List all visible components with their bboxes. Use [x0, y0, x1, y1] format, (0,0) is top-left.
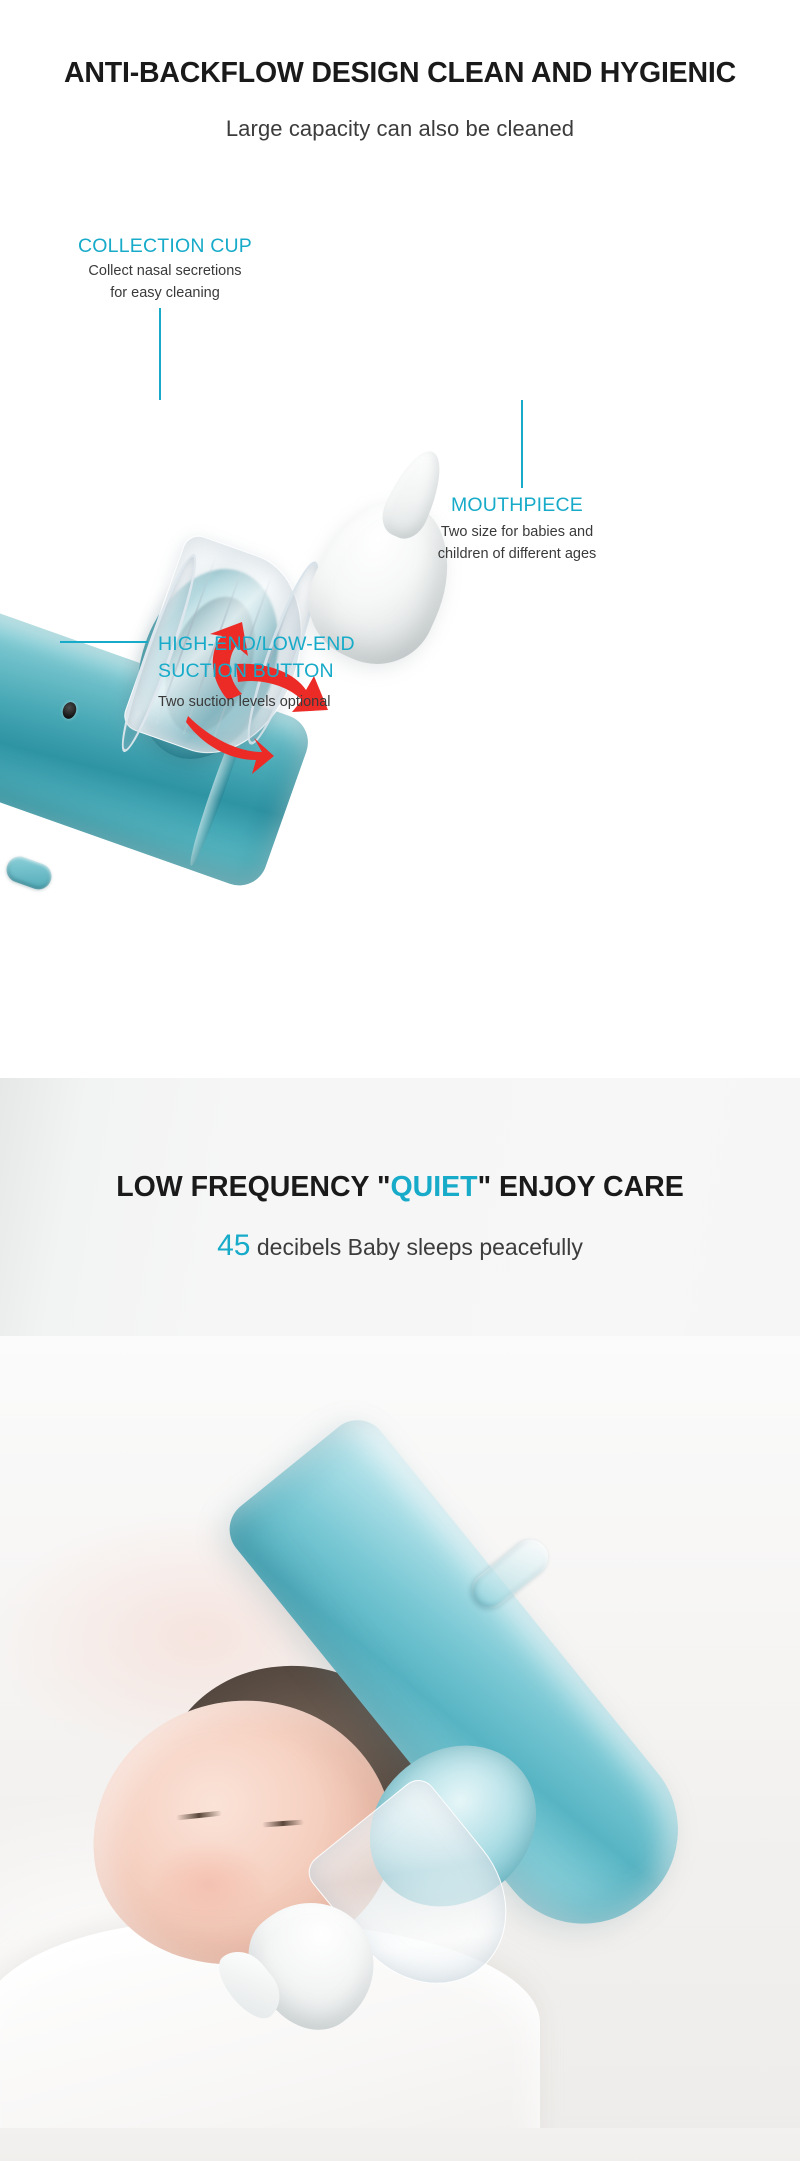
- section-low-frequency-quiet: LOW FREQUENCY "QUIET" ENJOY CARE 45 deci…: [0, 1078, 800, 2161]
- callout-mouthpiece-desc-line1: Two size for babies and: [352, 521, 682, 543]
- red-rotation-arrow-icon: [186, 708, 274, 774]
- baby-cheek: [150, 1841, 268, 1927]
- product-illustration: [0, 250, 800, 950]
- page-title: ANTI-BACKFLOW DESIGN CLEAN AND HYGIENIC: [0, 57, 800, 90]
- callout-suction-button-title: HIGH-END/LOW-END SUCTION BUTTON: [158, 631, 488, 685]
- section2-title-part2: ENJOY CARE: [491, 1171, 684, 1203]
- decibel-value: 45: [217, 1229, 250, 1262]
- callout-mouthpiece-desc: Two size for babies and children of diff…: [352, 521, 682, 565]
- callout-collection-cup-desc-line2: for easy cleaning: [0, 282, 330, 304]
- page-subtitle: Large capacity can also be cleaned: [0, 116, 800, 142]
- bed-sheet: [0, 2128, 800, 2161]
- callout-suction-button-title-line2: SUCTION BUTTON: [158, 658, 488, 685]
- callout-mouthpiece-desc-line2: children of different ages: [352, 543, 682, 565]
- callout-suction-button-title-line1: HIGH-END/LOW-END: [158, 631, 488, 658]
- section2-title-quote-open: ": [377, 1171, 391, 1203]
- section2-title-quote-close: ": [478, 1171, 492, 1203]
- section-anti-backflow: ANTI-BACKFLOW DESIGN CLEAN AND HYGIENIC …: [0, 0, 800, 1078]
- callout-collection-cup-desc-line1: Collect nasal secretions: [0, 260, 330, 282]
- decibel-caption: decibels Baby sleeps peacefully: [250, 1234, 582, 1260]
- leader-line-collection-cup: [159, 308, 161, 400]
- section2-title: LOW FREQUENCY "QUIET" ENJOY CARE: [0, 1171, 800, 1204]
- section2-title-part1: LOW FREQUENCY: [116, 1171, 377, 1203]
- callout-suction-button-desc: Two suction levels optional: [158, 691, 488, 713]
- device-suction-button[interactable]: [3, 853, 55, 893]
- leader-line-suction-button: [60, 641, 148, 643]
- callout-mouthpiece-title: MOUTHPIECE: [352, 492, 682, 519]
- callout-collection-cup-title: COLLECTION CUP: [0, 233, 330, 260]
- leader-line-mouthpiece: [521, 400, 523, 488]
- section2-title-accent: QUIET: [390, 1171, 477, 1203]
- callout-collection-cup-desc: Collect nasal secretions for easy cleani…: [0, 260, 330, 304]
- section2-subtitle: 45 decibels Baby sleeps peacefully: [0, 1229, 800, 1263]
